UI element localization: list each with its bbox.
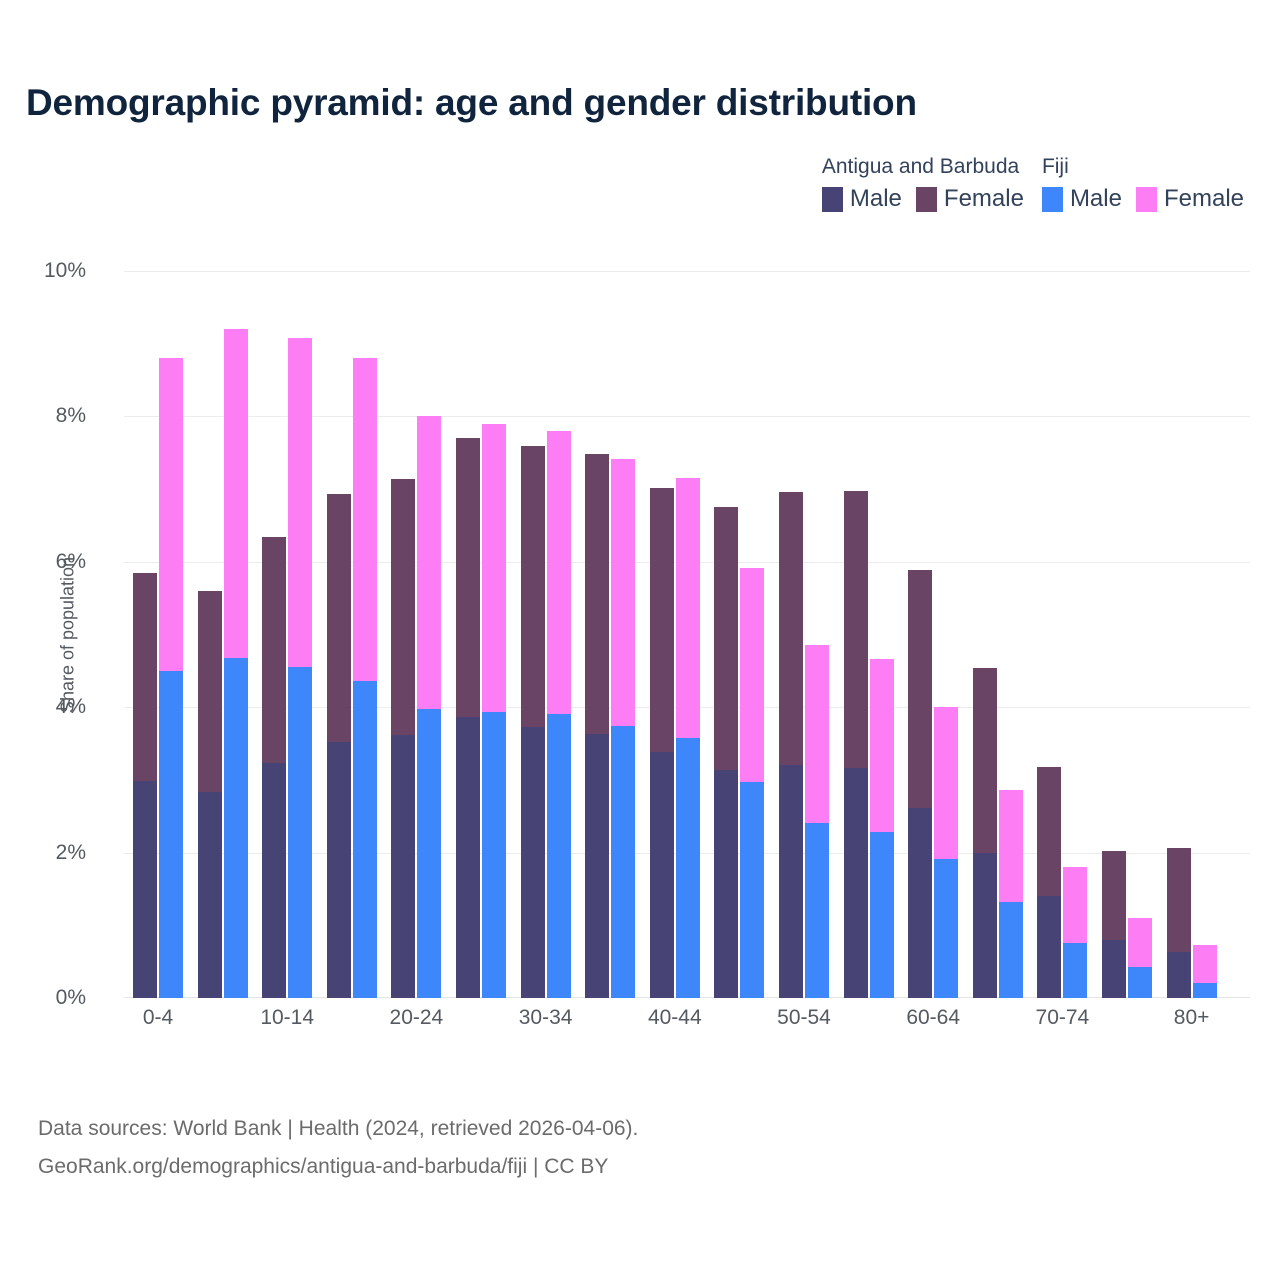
legend-label-antigua-male: Male bbox=[850, 185, 902, 213]
footer-data-sources: Data sources: World Bank | Health (2024,… bbox=[38, 1110, 638, 1148]
bar-segment-fiji-male[interactable] bbox=[159, 671, 183, 998]
bar-segment-antigua-female[interactable] bbox=[779, 492, 803, 765]
legend-group-title-antigua: Antigua and Barbuda bbox=[822, 155, 1024, 179]
bar-fiji[interactable] bbox=[1193, 945, 1217, 998]
bar-segment-antigua-male[interactable] bbox=[391, 735, 415, 998]
bar-segment-fiji-male[interactable] bbox=[999, 902, 1023, 998]
bar-segment-fiji-male[interactable] bbox=[1063, 943, 1087, 998]
bar-antigua-and-barbuda[interactable] bbox=[327, 494, 351, 998]
bar-segment-fiji-female[interactable] bbox=[159, 358, 183, 671]
bar-segment-antigua-male[interactable] bbox=[327, 742, 351, 998]
x-axis-tick-label: 50-54 bbox=[777, 1006, 831, 1030]
x-axis-tick-label: 80+ bbox=[1174, 1006, 1210, 1030]
bar-segment-fiji-female[interactable] bbox=[805, 645, 829, 822]
bar-segment-fiji-male[interactable] bbox=[676, 738, 700, 998]
bar-group bbox=[779, 271, 829, 998]
bar-segment-fiji-female[interactable] bbox=[934, 707, 958, 859]
bar-group bbox=[198, 271, 248, 998]
bar-segment-fiji-female[interactable] bbox=[353, 358, 377, 682]
bar-segment-fiji-female[interactable] bbox=[224, 329, 248, 658]
bar-group bbox=[650, 271, 700, 998]
bar-segment-fiji-female[interactable] bbox=[740, 568, 764, 782]
bar-segment-fiji-male[interactable] bbox=[547, 714, 571, 998]
bar-fiji[interactable] bbox=[288, 338, 312, 998]
bar-segment-fiji-male[interactable] bbox=[1128, 967, 1152, 998]
bar-fiji[interactable] bbox=[353, 358, 377, 998]
bar-group bbox=[262, 271, 312, 998]
bar-antigua-and-barbuda[interactable] bbox=[521, 445, 545, 998]
bar-fiji[interactable] bbox=[805, 645, 829, 998]
bar-group bbox=[1037, 271, 1087, 998]
y-axis-tick-label: 2% bbox=[56, 841, 86, 865]
legend-group-fiji: Fiji Male Female bbox=[1042, 155, 1244, 213]
bar-segment-antigua-female[interactable] bbox=[391, 479, 415, 735]
bar-antigua-and-barbuda[interactable] bbox=[650, 488, 674, 998]
bar-group bbox=[391, 271, 441, 998]
bar-segment-fiji-male[interactable] bbox=[353, 681, 377, 998]
bar-segment-antigua-male[interactable] bbox=[908, 808, 932, 998]
bar-segment-antigua-male[interactable] bbox=[973, 853, 997, 998]
bar-group bbox=[714, 271, 764, 998]
bar-fiji[interactable] bbox=[611, 459, 635, 998]
y-axis-tick-label: 10% bbox=[44, 259, 86, 283]
bar-antigua-and-barbuda[interactable] bbox=[391, 479, 415, 998]
bar-fiji[interactable] bbox=[159, 358, 183, 998]
bar-group bbox=[133, 271, 183, 998]
legend-group-antigua: Antigua and Barbuda Male Female bbox=[822, 155, 1024, 213]
bar-segment-antigua-male[interactable] bbox=[585, 734, 609, 998]
bar-segment-fiji-female[interactable] bbox=[547, 431, 571, 714]
legend-item-fiji-male[interactable]: Male bbox=[1042, 185, 1122, 213]
legend-items-antigua: Male Female bbox=[822, 185, 1024, 213]
bar-segment-antigua-female[interactable] bbox=[262, 537, 286, 763]
y-axis-tick-label: 0% bbox=[56, 986, 86, 1010]
y-axis-title: Share of population bbox=[58, 556, 79, 712]
bar-segment-fiji-female[interactable] bbox=[1063, 867, 1087, 943]
bar-fiji[interactable] bbox=[482, 424, 506, 998]
legend-label-fiji-female: Female bbox=[1164, 185, 1244, 213]
bar-group bbox=[327, 271, 377, 998]
bar-segment-antigua-female[interactable] bbox=[650, 488, 674, 751]
bar-segment-antigua-female[interactable] bbox=[1102, 851, 1126, 940]
bar-segment-antigua-male[interactable] bbox=[1037, 896, 1061, 998]
bar-antigua-and-barbuda[interactable] bbox=[908, 570, 932, 998]
bar-segment-antigua-male[interactable] bbox=[714, 770, 738, 998]
y-axis-tick-label: 4% bbox=[56, 695, 86, 719]
bar-antigua-and-barbuda[interactable] bbox=[133, 573, 157, 998]
bar-segment-fiji-female[interactable] bbox=[288, 338, 312, 667]
bar-fiji[interactable] bbox=[547, 431, 571, 998]
bar-segment-antigua-female[interactable] bbox=[521, 446, 545, 727]
legend-group-title-fiji: Fiji bbox=[1042, 155, 1244, 179]
bar-antigua-and-barbuda[interactable] bbox=[714, 507, 738, 998]
bar-group bbox=[1167, 271, 1217, 998]
bar-segment-fiji-female[interactable] bbox=[611, 459, 635, 727]
bar-segment-antigua-male[interactable] bbox=[198, 792, 222, 998]
bar-segment-antigua-female[interactable] bbox=[1037, 767, 1061, 896]
legend-swatch-icon-fiji-male bbox=[1042, 187, 1063, 212]
bar-segment-antigua-male[interactable] bbox=[262, 763, 286, 998]
bar-segment-fiji-male[interactable] bbox=[870, 832, 894, 998]
bar-group bbox=[908, 271, 958, 998]
bar-antigua-and-barbuda[interactable] bbox=[973, 668, 997, 998]
x-axis-tick-label: 70-74 bbox=[1036, 1006, 1090, 1030]
bar-segment-fiji-male[interactable] bbox=[288, 667, 312, 998]
bar-antigua-and-barbuda[interactable] bbox=[198, 591, 222, 998]
x-axis-tick-label: 20-24 bbox=[390, 1006, 444, 1030]
bar-segment-antigua-female[interactable] bbox=[585, 454, 609, 735]
bar-group bbox=[521, 271, 571, 998]
bar-fiji[interactable] bbox=[870, 659, 894, 998]
bar-antigua-and-barbuda[interactable] bbox=[1037, 767, 1061, 998]
bar-segment-fiji-male[interactable] bbox=[1193, 983, 1217, 998]
bar-segment-antigua-female[interactable] bbox=[908, 570, 932, 808]
bar-group bbox=[844, 271, 894, 998]
bar-antigua-and-barbuda[interactable] bbox=[585, 453, 609, 998]
bar-segment-antigua-male[interactable] bbox=[456, 717, 480, 998]
bar-group bbox=[585, 271, 635, 998]
bar-segment-antigua-male[interactable] bbox=[133, 781, 157, 998]
bar-segment-antigua-male[interactable] bbox=[779, 765, 803, 998]
bar-segment-fiji-female[interactable] bbox=[1193, 945, 1217, 983]
legend-items-fiji: Male Female bbox=[1042, 185, 1244, 213]
bar-segment-antigua-male[interactable] bbox=[1102, 940, 1126, 998]
legend-swatch-icon-antigua-female bbox=[916, 187, 937, 212]
bar-antigua-and-barbuda[interactable] bbox=[1167, 848, 1191, 998]
bar-segment-fiji-female[interactable] bbox=[1128, 918, 1152, 967]
plot-area: Share of population 0%2%4%6%8%10%0-410-1… bbox=[124, 271, 1250, 998]
bar-fiji[interactable] bbox=[934, 707, 958, 998]
bar-segment-fiji-male[interactable] bbox=[482, 712, 506, 998]
legend-swatch-icon-fiji-female bbox=[1136, 187, 1157, 212]
bar-segment-fiji-male[interactable] bbox=[224, 658, 248, 998]
legend-label-fiji-male: Male bbox=[1070, 185, 1122, 213]
chart-page: Demographic pyramid: age and gender dist… bbox=[0, 0, 1280, 1280]
chart-legend: Antigua and Barbuda Male Female Fiji bbox=[822, 155, 1244, 213]
bar-fiji[interactable] bbox=[676, 478, 700, 998]
legend-label-antigua-female: Female bbox=[944, 185, 1024, 213]
bar-segment-antigua-female[interactable] bbox=[198, 591, 222, 792]
bar-segment-fiji-female[interactable] bbox=[676, 478, 700, 738]
bar-segment-antigua-female[interactable] bbox=[714, 507, 738, 770]
bar-antigua-and-barbuda[interactable] bbox=[779, 492, 803, 998]
bar-antigua-and-barbuda[interactable] bbox=[262, 537, 286, 998]
bar-segment-fiji-male[interactable] bbox=[740, 782, 764, 998]
x-axis-tick-label: 40-44 bbox=[648, 1006, 702, 1030]
legend-item-antigua-male[interactable]: Male bbox=[822, 185, 902, 213]
bar-segment-fiji-female[interactable] bbox=[870, 659, 894, 832]
bar-group bbox=[1102, 271, 1152, 998]
legend-item-antigua-female[interactable]: Female bbox=[916, 185, 1024, 213]
bar-segment-fiji-female[interactable] bbox=[417, 416, 441, 709]
bar-segment-antigua-female[interactable] bbox=[1167, 848, 1191, 952]
bar-segment-antigua-female[interactable] bbox=[327, 494, 351, 742]
legend-groups: Antigua and Barbuda Male Female Fiji bbox=[822, 155, 1244, 213]
page-title: Demographic pyramid: age and gender dist… bbox=[26, 82, 917, 124]
bar-segment-fiji-female[interactable] bbox=[999, 790, 1023, 902]
bar-fiji[interactable] bbox=[224, 329, 248, 998]
bar-segment-fiji-male[interactable] bbox=[417, 709, 441, 998]
bar-group bbox=[973, 271, 1023, 998]
bar-antigua-and-barbuda[interactable] bbox=[844, 491, 868, 998]
bar-fiji[interactable] bbox=[1063, 867, 1087, 998]
bar-segment-antigua-female[interactable] bbox=[456, 438, 480, 716]
bar-antigua-and-barbuda[interactable] bbox=[1102, 851, 1126, 998]
x-axis-tick-label: 0-4 bbox=[143, 1006, 173, 1030]
bar-segment-fiji-female[interactable] bbox=[482, 424, 506, 712]
x-axis-tick-label: 60-64 bbox=[906, 1006, 960, 1030]
bar-group bbox=[456, 271, 506, 998]
bar-segment-antigua-male[interactable] bbox=[1167, 952, 1191, 998]
bar-fiji[interactable] bbox=[999, 790, 1023, 998]
bar-fiji[interactable] bbox=[1128, 918, 1152, 998]
bar-segment-antigua-male[interactable] bbox=[650, 752, 674, 998]
bar-segment-fiji-male[interactable] bbox=[934, 859, 958, 998]
x-axis-tick-label: 10-14 bbox=[260, 1006, 314, 1030]
footer: Data sources: World Bank | Health (2024,… bbox=[38, 1110, 638, 1186]
bar-segment-antigua-male[interactable] bbox=[521, 727, 545, 998]
bar-fiji[interactable] bbox=[417, 416, 441, 998]
bar-segment-fiji-male[interactable] bbox=[805, 823, 829, 998]
y-axis-tick-label: 6% bbox=[56, 550, 86, 574]
bar-antigua-and-barbuda[interactable] bbox=[456, 438, 480, 998]
y-axis-tick-label: 8% bbox=[56, 404, 86, 428]
x-axis-tick-label: 30-34 bbox=[519, 1006, 573, 1030]
bar-segment-fiji-male[interactable] bbox=[611, 726, 635, 998]
footer-attribution: GeoRank.org/demographics/antigua-and-bar… bbox=[38, 1148, 638, 1186]
bar-fiji[interactable] bbox=[740, 568, 764, 998]
bar-segment-antigua-female[interactable] bbox=[844, 491, 868, 769]
legend-item-fiji-female[interactable]: Female bbox=[1136, 185, 1244, 213]
bar-segment-antigua-female[interactable] bbox=[133, 573, 157, 782]
bar-segment-antigua-male[interactable] bbox=[844, 768, 868, 998]
legend-swatch-icon-antigua-male bbox=[822, 187, 843, 212]
bar-segment-antigua-female[interactable] bbox=[973, 668, 997, 853]
